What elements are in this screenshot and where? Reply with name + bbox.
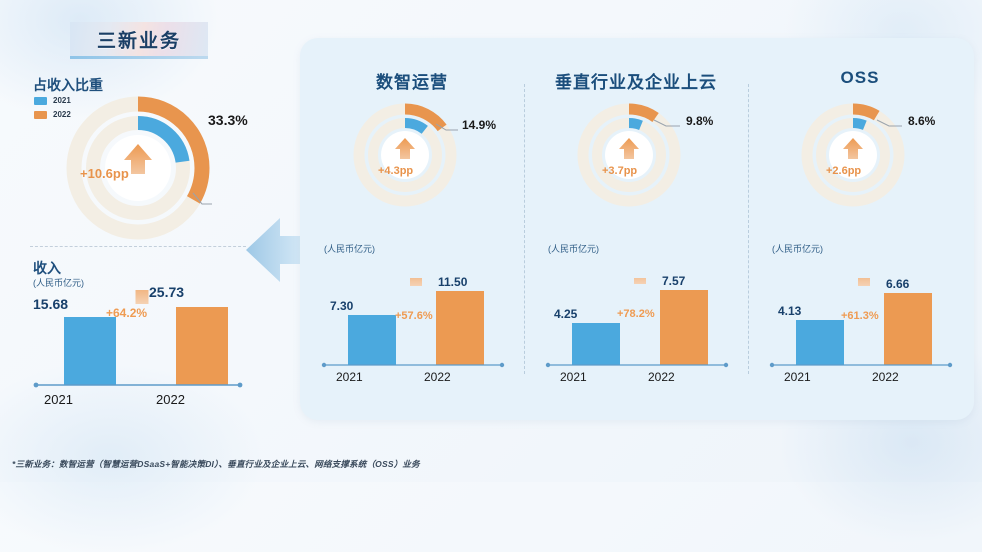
panel-2-value-2021: 4.25 <box>554 307 577 321</box>
legend-swatch-2022 <box>34 111 47 119</box>
bar-2021 <box>348 315 396 365</box>
panel-1-donut-chart <box>350 100 460 210</box>
panel-title-2: 垂直行业及企业上云 <box>524 68 748 93</box>
revenue-section-title: 收入 <box>33 258 61 278</box>
panel-3-donut-chart <box>798 100 908 210</box>
growth-arrow-icon <box>405 278 427 286</box>
panel-3-percent-label: 8.6% <box>908 114 935 128</box>
panel-1-axis-2022: 2022 <box>424 370 451 384</box>
panel-1-value-2021: 7.30 <box>330 299 353 313</box>
panel-1-center-label: +4.3pp <box>378 165 413 177</box>
revenue-value-2022: 25.73 <box>149 284 184 300</box>
panel-1-value-2022: 11.50 <box>438 275 467 289</box>
panel-2-donut-chart <box>574 100 684 210</box>
bar-2022 <box>660 290 708 365</box>
panel-2-value-2022: 7.57 <box>662 274 685 288</box>
legend-swatch-2021 <box>34 97 47 105</box>
panel-vertical-industry-cloud[interactable]: 垂直行业及企业上云 9.8% +3.7pp (人民币亿元) <box>524 38 748 420</box>
panel-3-growth-label: +61.3% <box>841 310 879 322</box>
panel-3-unit-label: (人民币亿元) <box>772 242 823 255</box>
growth-arrow-icon <box>629 278 651 284</box>
panel-3-value-2022: 6.66 <box>886 277 909 291</box>
panel-3-center-label: +2.6pp <box>826 165 861 177</box>
banner-underline <box>70 56 208 59</box>
revenue-value-2021: 15.68 <box>33 296 68 312</box>
main-donut-center-label: +10.6pp <box>80 166 129 181</box>
revenue-growth-label: +64.2% <box>106 306 147 320</box>
panel-2-bar-chart <box>542 278 732 378</box>
growth-arrow-icon <box>853 278 875 286</box>
panel-2-axis-2021: 2021 <box>560 370 587 384</box>
panel-2-center-label: +3.7pp <box>602 165 637 177</box>
panel-title-3: OSS <box>748 68 972 88</box>
bar-2022 <box>884 293 932 365</box>
bar-2022 <box>176 307 228 385</box>
panel-1-growth-label: +57.6% <box>395 310 433 322</box>
revenue-unit-label: (人民币亿元) <box>33 276 84 289</box>
panel-3-axis-2022: 2022 <box>872 370 899 384</box>
panel-2-percent-label: 9.8% <box>686 114 713 128</box>
panel-title-1: 数智运营 <box>300 68 524 93</box>
panel-2-unit-label: (人民币亿元) <box>548 242 599 255</box>
bar-2021 <box>572 323 620 365</box>
panels-card: 数智运营 14.9% +4.3pp (人民币亿元) <box>300 38 974 420</box>
section-banner: 三新业务 <box>70 22 208 56</box>
panel-2-axis-2022: 2022 <box>648 370 675 384</box>
footnote: *三新业务：数智运营（智慧运营DSaaS+智能决策DI）、垂直行业及企业上云、网… <box>12 458 420 470</box>
revenue-axis-2022: 2022 <box>156 392 185 407</box>
panel-3-bar-chart <box>766 278 956 378</box>
panel-1-percent-label: 14.9% <box>462 118 496 132</box>
left-divider <box>30 246 246 247</box>
panel-1-bar-chart <box>318 278 508 378</box>
panel-3-axis-2021: 2021 <box>784 370 811 384</box>
bar-2021 <box>796 320 844 365</box>
panel-digital-operations[interactable]: 数智运营 14.9% +4.3pp (人民币亿元) <box>300 38 524 420</box>
bar-2022 <box>436 291 484 365</box>
main-donut-percent-label: 33.3% <box>208 112 248 128</box>
panel-2-growth-label: +78.2% <box>617 308 655 320</box>
panel-1-unit-label: (人民币亿元) <box>324 242 375 255</box>
bar-2021 <box>64 317 116 385</box>
revenue-axis-2021: 2021 <box>44 392 73 407</box>
panel-1-axis-2021: 2021 <box>336 370 363 384</box>
banner-title: 三新业务 <box>97 26 181 53</box>
panel-oss[interactable]: OSS 8.6% +2.6pp (人民币亿元) <box>748 38 972 420</box>
panel-3-value-2021: 4.13 <box>778 304 801 318</box>
